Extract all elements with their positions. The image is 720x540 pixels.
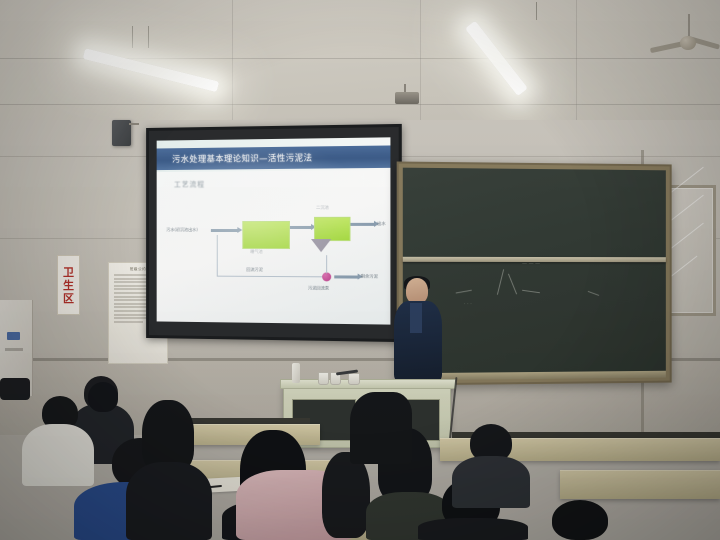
slide-surface: 污水处理基本理论知识—活性污泥法 工艺流程 污水(初沉池出水) 曝气池 出水 [157,137,391,324]
bag-left [0,378,30,400]
lecturer [392,278,444,388]
student-body-9 [418,518,528,540]
diagram-pump-label: 污泥回流泵 [308,285,329,291]
lamp-cord-left-2 [148,26,149,48]
student-body-5 [126,462,212,540]
ceiling-projector [395,92,419,104]
chalk-text-1: — — — [522,261,540,267]
settling-tank [314,217,350,241]
chalk-mark-1 [497,269,504,295]
student-body-2 [22,424,94,486]
chalk-mark-3 [522,290,540,293]
return-line-horiz [217,276,326,278]
arrow-outlet [350,223,375,226]
fan-rod [688,14,690,36]
sludge-pump-node [322,272,331,281]
diagram-inlet-label: 污水(初沉池出水) [166,227,198,233]
lamp-cord-left [132,26,133,48]
aeration-tank [242,221,290,249]
classroom-photo: 卫 生 区 班级公约 污水处理基本理论知识—活性污泥法 工艺流程 [0,0,720,540]
diagram-return-sludge-label: 回流污泥 [246,267,263,273]
student-head-3 [88,382,118,412]
cabinet-slot [5,348,23,351]
diagram-excess-sludge-label: 剩余污泥 [361,274,378,280]
thermos-bottle [292,363,300,383]
student-head-11 [552,500,608,540]
diagram-outlet-label: 出水 [377,221,386,227]
diagram-aeration-label: 曝气池 [250,249,262,255]
student-body-12 [350,392,412,464]
lecturer-shirt [410,303,422,333]
arrow-inlet [211,229,238,232]
desk-row-front-right [560,470,720,499]
sign-char-3: 区 [63,292,74,305]
projection-screen: 污水处理基本理论知识—活性污泥法 工艺流程 污水(初沉池出水) 曝气池 出水 [146,124,402,342]
slide-subtitle: 工艺流程 [174,180,205,190]
arrow-mid [290,226,312,229]
podium-top-surface [280,379,456,389]
pump-riser [326,255,327,273]
chalk-mark-4 [456,290,472,294]
hygiene-area-sign: 卫 生 区 [57,255,80,315]
fan-hub [680,36,696,50]
ceiling-light-left [83,48,220,92]
cup-1 [318,372,329,385]
chalk-text-2: · · · [464,301,472,307]
student-body-10 [452,456,530,508]
speaker-bracket [129,123,139,125]
slide-title: 污水处理基本理论知识—活性污泥法 [157,152,313,166]
slide-title-bar: 污水处理基本理论知识—活性污泥法 [157,145,391,170]
chalk-mark-5 [588,291,599,296]
arrow-excess-sludge [334,275,358,278]
return-line-vert-left [217,235,218,277]
diagram-settling-label: 二沉池 [316,205,329,211]
cup-3 [348,373,360,385]
sign-char-2: 生 [63,279,74,292]
sign-char-1: 卫 [63,266,74,279]
student-hair-7 [322,452,370,538]
cabinet-label [7,332,20,340]
settling-tank-cone [311,239,331,252]
slide-body: 工艺流程 污水(初沉池出水) 曝气池 出水 回流污泥 [157,170,391,325]
chalk-mark-2 [508,274,517,295]
lamp-cord-right [536,2,537,20]
